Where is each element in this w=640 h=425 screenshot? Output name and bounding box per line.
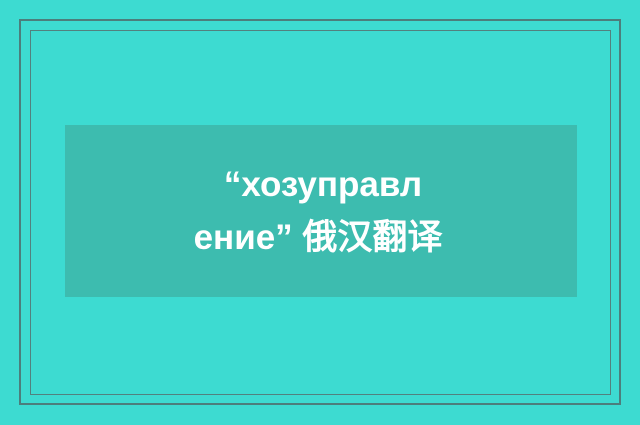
headline-line-1: “хозуправл: [224, 158, 422, 211]
headline-line-2: ение” 俄汉翻译: [194, 211, 443, 264]
headline-panel: “хозуправл ение” 俄汉翻译: [65, 125, 577, 297]
text-card: “хозуправл ение” 俄汉翻译: [0, 0, 640, 425]
